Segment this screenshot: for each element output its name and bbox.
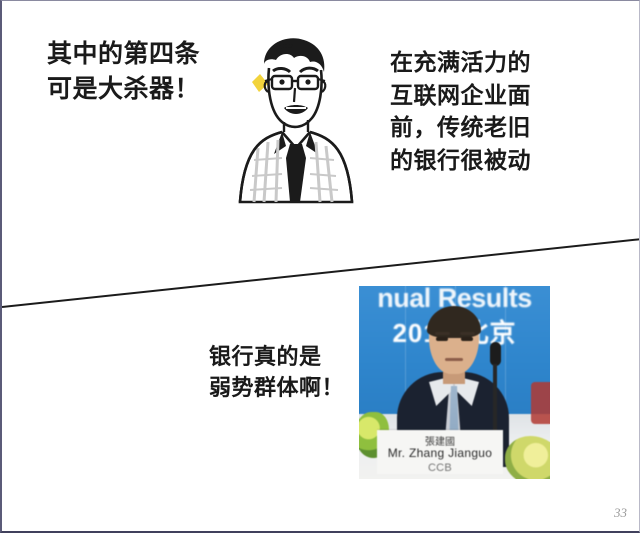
cartoon-eye-left [279,79,284,84]
cartoon-hair [264,38,324,72]
caption-top-right: 在充满活力的 互联网企业面 前，传统老旧 的银行很被动 [390,47,531,178]
page-number: 33 [614,505,627,521]
cartoon-nose [294,88,295,102]
cartoon-eye-right [305,79,310,84]
photo-softness-overlay [359,286,550,479]
slide-canvas: 其中的第四条 可是大杀器！ 在充满活力的 互联网企业面 前，传统老旧 的银行很被… [0,0,640,533]
caption-bottom-left: 银行真的是 弱势群体啊！ [209,342,344,404]
caption-top-left: 其中的第四条 可是大杀器！ [47,37,200,106]
cartoon-man-illustration [220,26,370,206]
press-conference-photo: nual Results 2014 北京 張建國 Mr. Zhang Jiang… [359,286,550,479]
